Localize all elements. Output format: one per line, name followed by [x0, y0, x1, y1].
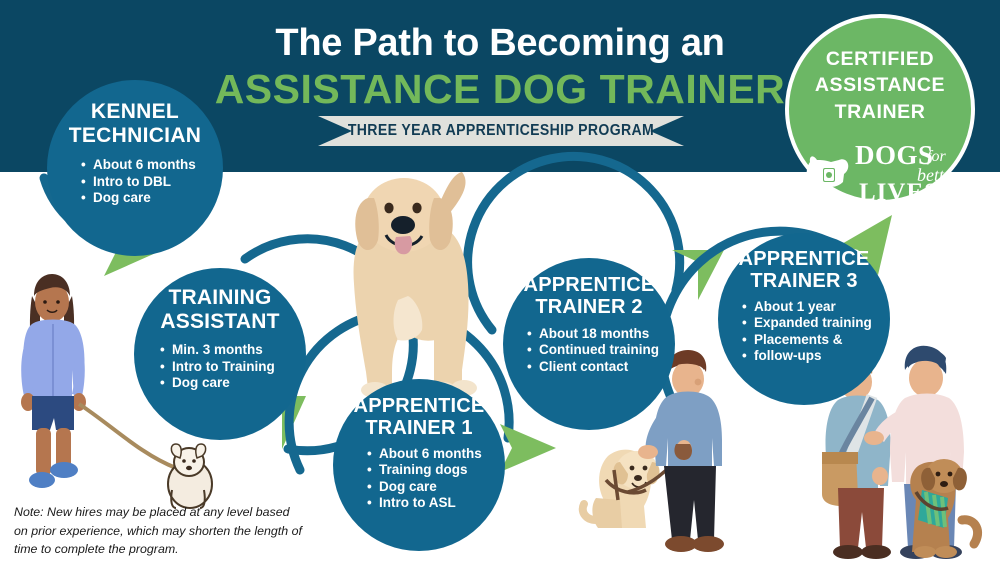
bullet-item: About 6 months	[367, 446, 505, 462]
dogs-for-better-lives-logo: DOGS for better LIVES	[789, 138, 979, 204]
step-circle-apprentice-trainer-2[interactable]: APPRENTICE TRAINER 2 About 18 months Con…	[503, 258, 675, 430]
golden-retriever-puppy-illustration	[354, 172, 477, 398]
bullet-item: Intro to Training	[160, 359, 306, 375]
step-bullets-apprentice-trainer-2: About 18 months Continued training Clien…	[527, 326, 675, 375]
bullet-item: Dog care	[81, 190, 223, 206]
bullet-item: Intro to ASL	[367, 495, 505, 511]
bullet-item: Placements &	[742, 332, 890, 348]
bullet-item: About 6 months	[81, 157, 223, 173]
step-circle-apprentice-trainer-3[interactable]: APPRENTICE TRAINER 3 About 1 year Expand…	[718, 233, 890, 405]
step-bullets-apprentice-trainer-1: About 6 months Training dogs Dog care In…	[367, 446, 505, 512]
bullet-item: Dog care	[160, 375, 306, 391]
step-bullets-kennel-technician: About 6 months Intro to DBL Dog care	[81, 157, 223, 206]
step-title-apprentice-trainer-3: APPRENTICE TRAINER 3	[718, 233, 890, 293]
logo-word-for: for	[927, 148, 946, 165]
certified-badge-title: CERTIFIED ASSISTANCE TRAINER	[789, 18, 971, 125]
step-bullets-apprentice-trainer-3: About 1 year Expanded training Placement…	[742, 299, 890, 365]
infographic-canvas: The Path to Becoming an ASSISTANCE DOG T…	[0, 0, 1000, 563]
step-title-apprentice-trainer-2: APPRENTICE TRAINER 2	[503, 258, 675, 319]
footnote-text: Note: New hires may be placed at any lev…	[14, 503, 304, 559]
bullet-item: Intro to DBL	[81, 174, 223, 190]
step-title-kennel-technician: KENNEL TECHNICIAN	[47, 80, 223, 147]
bullet-item: Dog care	[367, 479, 505, 495]
bullet-item: About 18 months	[527, 326, 675, 342]
certified-badge-circle[interactable]: CERTIFIED ASSISTANCE TRAINER DOGS for be…	[785, 14, 975, 204]
bullet-item: Continued training	[527, 342, 675, 358]
step-circle-apprentice-trainer-1[interactable]: APPRENTICE TRAINER 1 About 6 months Trai…	[333, 379, 505, 551]
step-circle-kennel-technician[interactable]: KENNEL TECHNICIAN About 6 months Intro t…	[47, 80, 223, 256]
bullet-item-continuation: follow-ups	[742, 348, 890, 364]
step-title-training-assistant: TRAINING ASSISTANT	[134, 268, 306, 333]
bullet-item: Client contact	[527, 359, 675, 375]
bullet-item: Training dogs	[367, 462, 505, 478]
bullet-item: Min. 3 months	[160, 342, 306, 358]
step-title-apprentice-trainer-1: APPRENTICE TRAINER 1	[333, 379, 505, 440]
bullet-item: Expanded training	[742, 315, 890, 331]
step-circle-training-assistant[interactable]: TRAINING ASSISTANT Min. 3 months Intro t…	[134, 268, 306, 440]
bullet-item: About 1 year	[742, 299, 890, 315]
logo-word-lives: LIVES	[859, 179, 939, 204]
service-dog-icon	[807, 156, 849, 196]
step-bullets-training-assistant: Min. 3 months Intro to Training Dog care	[160, 342, 306, 391]
